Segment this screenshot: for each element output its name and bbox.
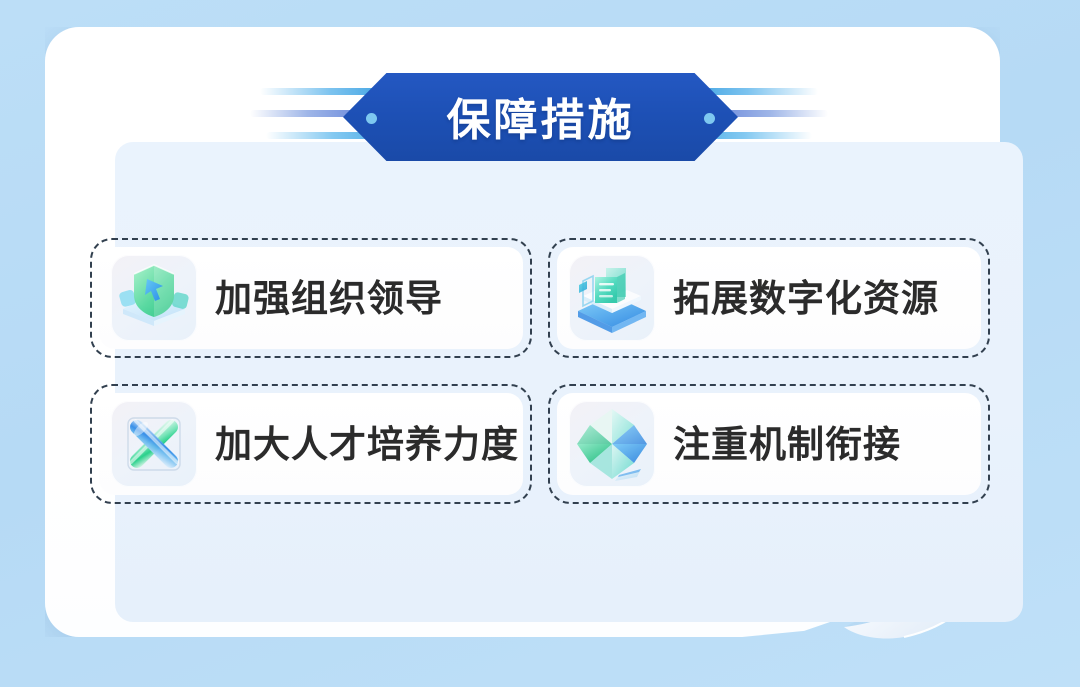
measure-label: 注重机制衔接 <box>673 426 901 463</box>
title-banner-zone: 保障措施 <box>0 62 1080 172</box>
measure-card-body: 拓展数字化资源 <box>557 247 981 349</box>
measure-card-2[interactable]: 拓展数字化资源 <box>548 238 990 358</box>
measures-grid: 加强组织领导 <box>90 238 990 504</box>
digital-documents-icon <box>569 255 655 341</box>
pinwheel-star-icon <box>569 401 655 487</box>
title-banner: 保障措施 <box>343 73 738 161</box>
measure-card-body: 加大人才培养力度 <box>99 393 523 495</box>
measure-label: 拓展数字化资源 <box>673 280 939 317</box>
measure-card-1[interactable]: 加强组织领导 <box>90 238 532 358</box>
crossed-rods-icon <box>111 401 197 487</box>
measure-label: 加大人才培养力度 <box>215 426 519 463</box>
measure-card-body: 注重机制衔接 <box>557 393 981 495</box>
measure-card-body: 加强组织领导 <box>99 247 523 349</box>
measure-card-3[interactable]: 加大人才培养力度 <box>90 384 532 504</box>
measure-card-4[interactable]: 注重机制衔接 <box>548 384 990 504</box>
shield-leadership-icon <box>111 255 197 341</box>
page-title: 保障措施 <box>343 73 738 161</box>
measure-label: 加强组织领导 <box>215 280 443 317</box>
